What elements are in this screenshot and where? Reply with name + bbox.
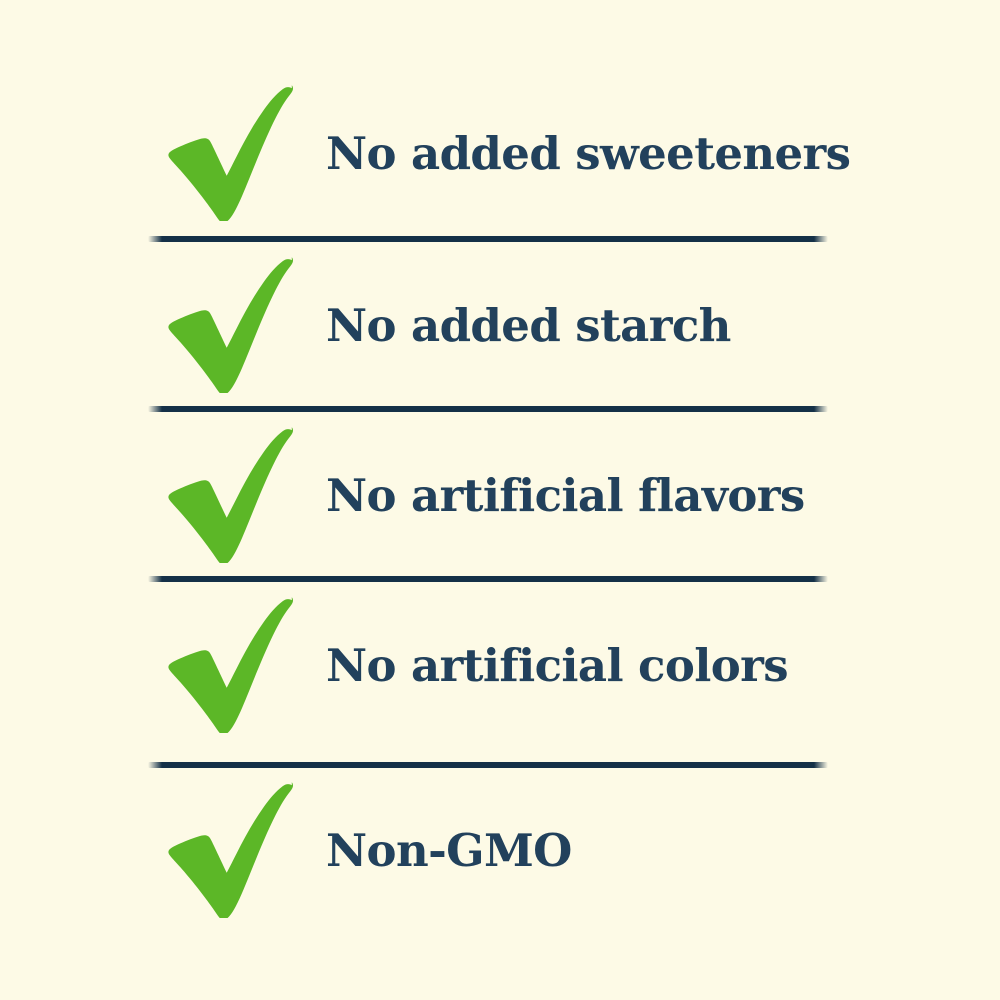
- green-checkmark-icon: [164, 590, 314, 740]
- list-item: No artificial colors: [150, 580, 850, 750]
- list-item-label: No artificial colors: [326, 643, 850, 688]
- checklist: No added sweeteners No added starch No a…: [0, 0, 1000, 1000]
- green-checkmark-icon: [164, 775, 314, 925]
- green-checkmark-icon: [164, 250, 314, 400]
- list-item-label: No added sweeteners: [326, 131, 850, 176]
- list-item: No added sweeteners: [150, 68, 850, 238]
- list-item: No added starch: [150, 240, 850, 410]
- green-checkmark-icon: [164, 78, 314, 228]
- green-checkmark-icon: [164, 420, 314, 570]
- list-item: Non-GMO: [150, 765, 850, 935]
- product-attributes-panel: No added sweeteners No added starch No a…: [0, 0, 1000, 1000]
- list-item-label: No artificial flavors: [326, 473, 850, 518]
- list-item: No artificial flavors: [150, 410, 850, 580]
- list-item-label: No added starch: [326, 303, 850, 348]
- list-item-label: Non-GMO: [326, 828, 850, 873]
